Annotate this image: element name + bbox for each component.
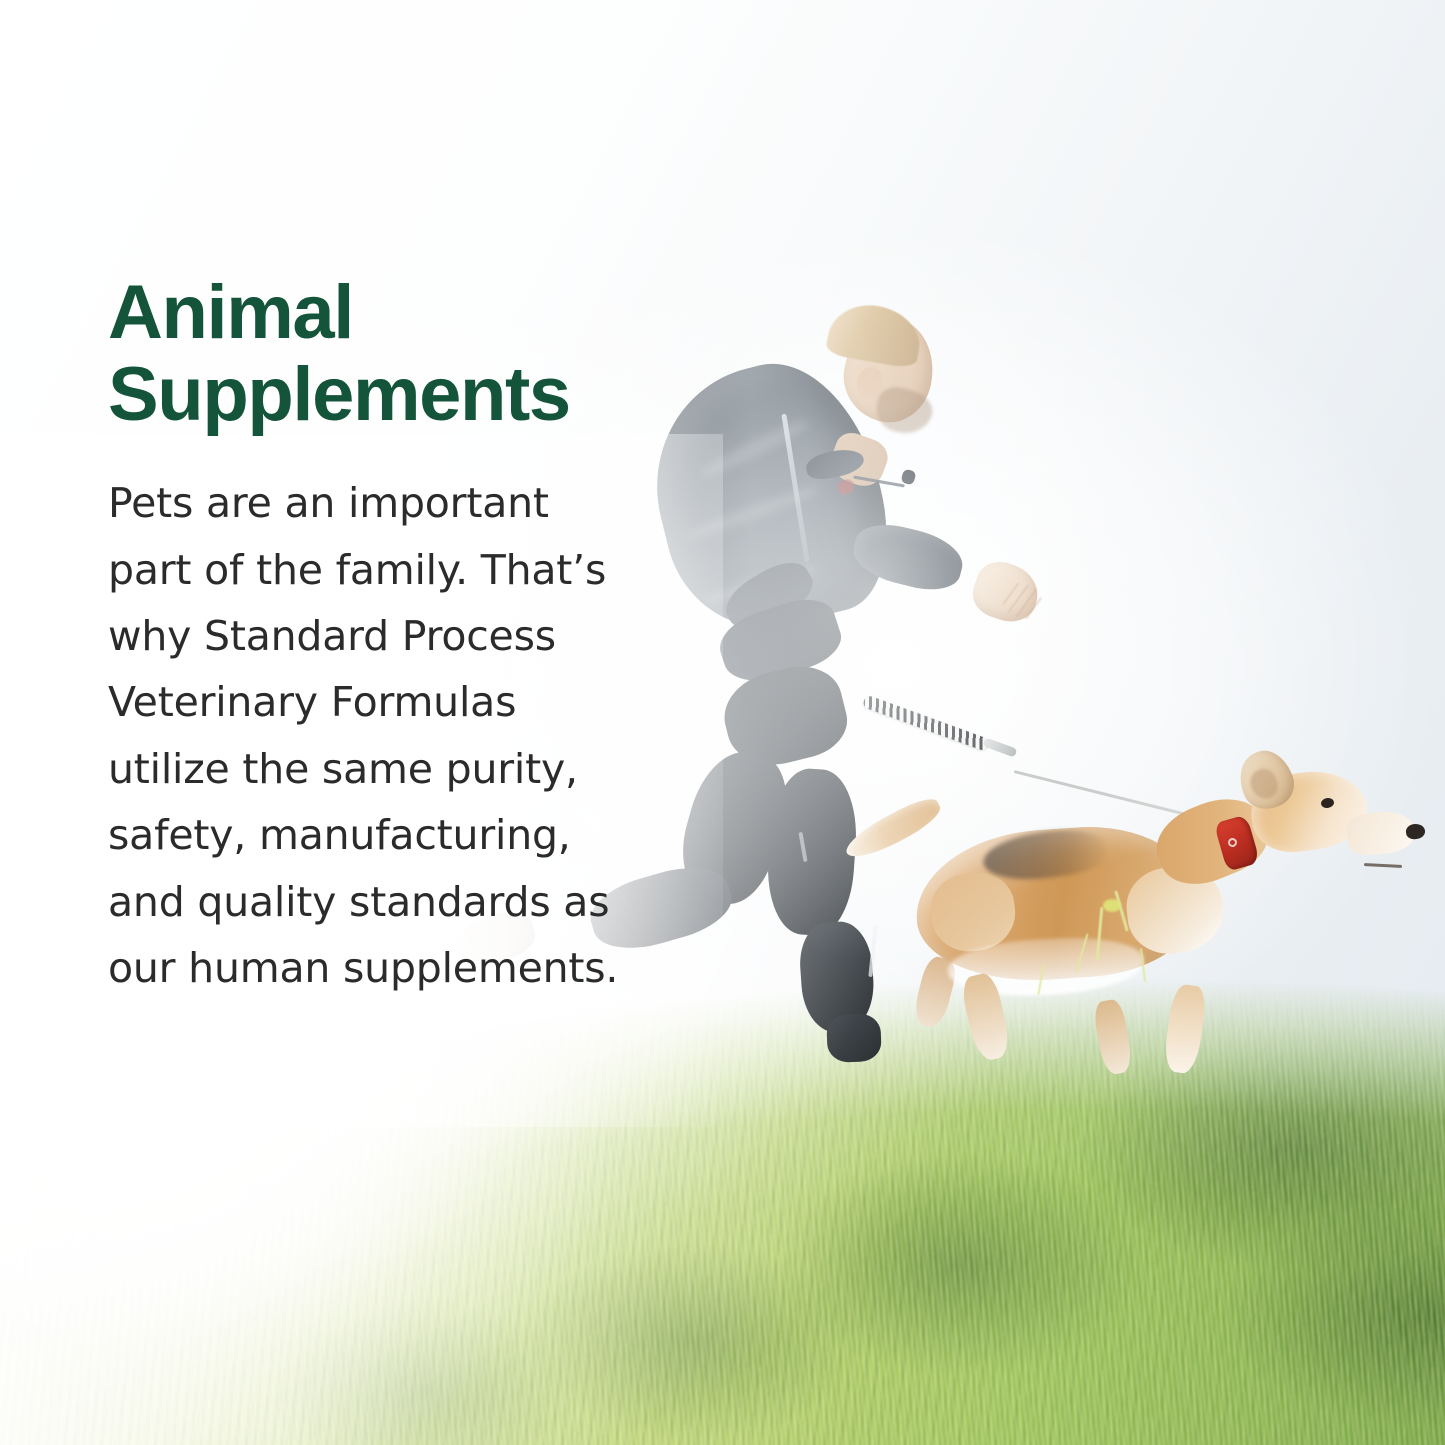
body-line-3: why Standard Process bbox=[108, 603, 688, 669]
body-line-5: utilize the same purity, bbox=[108, 736, 688, 802]
body-line-6: safety, manufacturing, bbox=[108, 802, 688, 868]
body-line-1: Pets are an important bbox=[108, 470, 688, 536]
dog-front-right-leg bbox=[1162, 984, 1208, 1076]
dog-front-left-leg bbox=[1092, 998, 1134, 1076]
body-paragraph: Pets are an important part of the family… bbox=[108, 470, 688, 1001]
headline-line-1: Animal bbox=[108, 272, 688, 354]
dog-mouth bbox=[1364, 863, 1402, 868]
body-line-7: and quality standards as bbox=[108, 869, 688, 935]
weed-seedhead bbox=[1103, 899, 1121, 912]
body-line-8: our human supplements. bbox=[108, 935, 688, 1001]
body-line-2: part of the family. That’s bbox=[108, 537, 688, 603]
body-line-4: Veterinary Formulas bbox=[108, 669, 688, 735]
copy-block: Animal Supplements Pets are an important… bbox=[108, 272, 688, 1001]
dog-tail bbox=[840, 792, 945, 866]
dog-nose bbox=[1405, 822, 1426, 839]
headline-line-2: Supplements bbox=[108, 354, 688, 436]
animal-supplements-poster: Animal Supplements Pets are an important… bbox=[0, 0, 1445, 1445]
page-title: Animal Supplements bbox=[108, 272, 688, 436]
